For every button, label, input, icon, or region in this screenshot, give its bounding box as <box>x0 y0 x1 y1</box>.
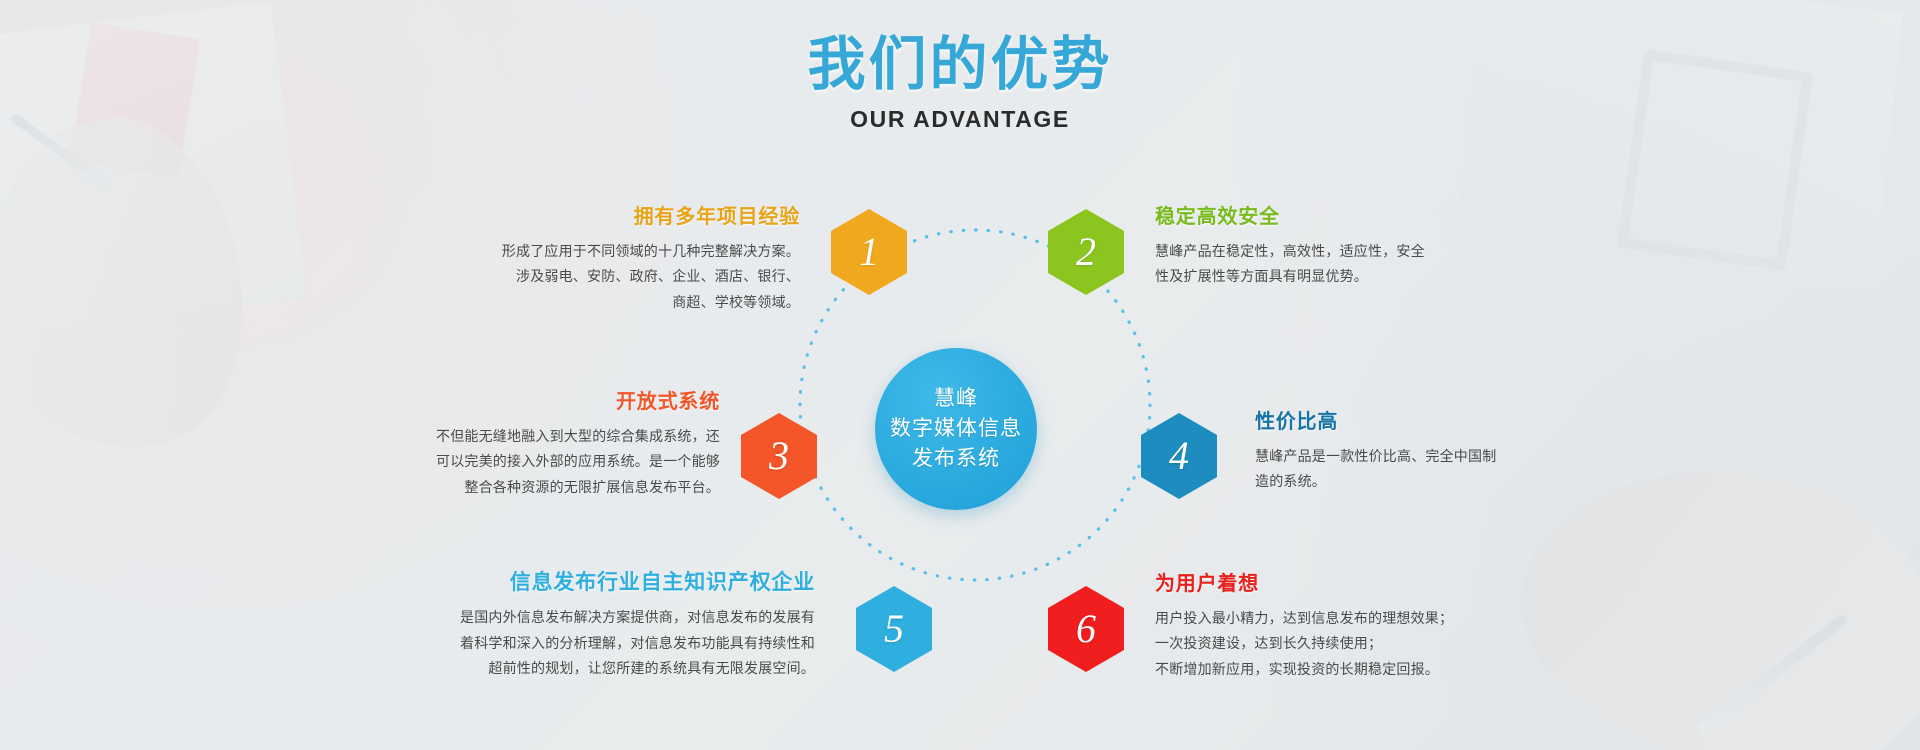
hexagon-5[interactable]: 5 <box>855 585 933 673</box>
advantage-block-2: 稳定高效安全 慧峰产品在稳定性，高效性，适应性，安全 性及扩展性等方面具有明显优… <box>1155 205 1575 290</box>
advantage-4-body: 慧峰产品是一款性价比高、完全中国制 造的系统。 <box>1255 444 1655 495</box>
advantage-6-title: 为用户着想 <box>1155 572 1595 596</box>
hexagon-3[interactable]: 3 <box>740 412 818 500</box>
hexagon-4-number: 4 <box>1140 412 1218 500</box>
advantage-3-body: 不但能无缝地融入到大型的综合集成系统，还 可以完美的接入外部的应用系统。是一个能… <box>305 424 720 500</box>
advantage-1-title: 拥有多年项目经验 <box>400 205 800 229</box>
hexagon-5-number: 5 <box>855 585 933 673</box>
advantage-3-line-3: 整合各种资源的无限扩展信息发布平台。 <box>305 475 720 500</box>
center-line-1: 慧峰 <box>934 384 978 414</box>
advantage-block-6: 为用户着想 用户投入最小精力，达到信息发布的理想效果； 一次投资建设，达到长久持… <box>1155 572 1595 682</box>
advantage-5-line-3: 超前性的规划，让您所建的系统具有无限发展空间。 <box>330 656 815 681</box>
advantage-6-body: 用户投入最小精力，达到信息发布的理想效果； 一次投资建设，达到长久持续使用； 不… <box>1155 606 1595 682</box>
advantage-3-line-2: 可以完美的接入外部的应用系统。是一个能够 <box>305 449 720 474</box>
hexagon-6[interactable]: 6 <box>1047 585 1125 673</box>
advantage-1-body: 形成了应用于不同领域的十几种完整解决方案。 涉及弱电、安防、政府、企业、酒店、银… <box>400 239 800 315</box>
advantage-block-5: 信息发布行业自主知识产权企业 是国内外信息发布解决方案提供商，对信息发布的发展有… <box>330 570 815 682</box>
advantage-5-title: 信息发布行业自主知识产权企业 <box>330 570 815 595</box>
advantage-4-line-2: 造的系统。 <box>1255 469 1655 494</box>
center-line-2: 数字媒体信息 <box>890 414 1022 444</box>
center-bubble: 慧峰 数字媒体信息 发布系统 <box>875 348 1037 510</box>
advantage-2-title: 稳定高效安全 <box>1155 205 1575 229</box>
advantage-1-line-1: 形成了应用于不同领域的十几种完整解决方案。 <box>400 239 800 264</box>
advantage-6-line-1: 用户投入最小精力，达到信息发布的理想效果； <box>1155 606 1595 631</box>
advantage-2-line-1: 慧峰产品在稳定性，高效性，适应性，安全 <box>1155 239 1575 264</box>
advantage-4-title: 性价比高 <box>1255 410 1655 434</box>
hexagon-2-number: 2 <box>1047 208 1125 296</box>
advantage-4-line-1: 慧峰产品是一款性价比高、完全中国制 <box>1255 444 1655 469</box>
advantage-5-line-1: 是国内外信息发布解决方案提供商，对信息发布的发展有 <box>330 605 815 630</box>
hexagon-3-number: 3 <box>740 412 818 500</box>
advantage-5-line-2: 着科学和深入的分析理解，对信息发布功能具有持续性和 <box>330 631 815 656</box>
hexagon-6-number: 6 <box>1047 585 1125 673</box>
hexagon-1[interactable]: 1 <box>830 208 908 296</box>
advantage-1-line-2: 涉及弱电、安防、政府、企业、酒店、银行、 <box>400 264 800 289</box>
title-english: OUR ADVANTAGE <box>0 106 1920 133</box>
advantage-block-1: 拥有多年项目经验 形成了应用于不同领域的十几种完整解决方案。 涉及弱电、安防、政… <box>400 205 800 315</box>
advantage-2-body: 慧峰产品在稳定性，高效性，适应性，安全 性及扩展性等方面具有明显优势。 <box>1155 239 1575 290</box>
advantage-3-title: 开放式系统 <box>305 390 720 414</box>
advantage-6-line-3: 不断增加新应用，实现投资的长期稳定回报。 <box>1155 657 1595 682</box>
title-chinese: 我们的优势 <box>0 36 1920 94</box>
advantage-infographic: 我们的优势 OUR ADVANTAGE 慧峰 数字媒体信息 发布系统 1 2 <box>0 0 1920 750</box>
advantage-5-body: 是国内外信息发布解决方案提供商，对信息发布的发展有 着科学和深入的分析理解，对信… <box>330 605 815 681</box>
hexagon-4[interactable]: 4 <box>1140 412 1218 500</box>
advantage-3-line-1: 不但能无缝地融入到大型的综合集成系统，还 <box>305 424 720 449</box>
hexagon-2[interactable]: 2 <box>1047 208 1125 296</box>
advantage-2-line-2: 性及扩展性等方面具有明显优势。 <box>1155 264 1575 289</box>
advantage-1-line-3: 商超、学校等领域。 <box>400 290 800 315</box>
advantage-block-4: 性价比高 慧峰产品是一款性价比高、完全中国制 造的系统。 <box>1255 410 1655 495</box>
hexagon-1-number: 1 <box>830 208 908 296</box>
advantage-6-line-2: 一次投资建设，达到长久持续使用； <box>1155 631 1595 656</box>
page-title: 我们的优势 OUR ADVANTAGE <box>0 36 1920 133</box>
center-line-3: 发布系统 <box>912 444 1000 474</box>
advantage-block-3: 开放式系统 不但能无缝地融入到大型的综合集成系统，还 可以完美的接入外部的应用系… <box>305 390 720 500</box>
